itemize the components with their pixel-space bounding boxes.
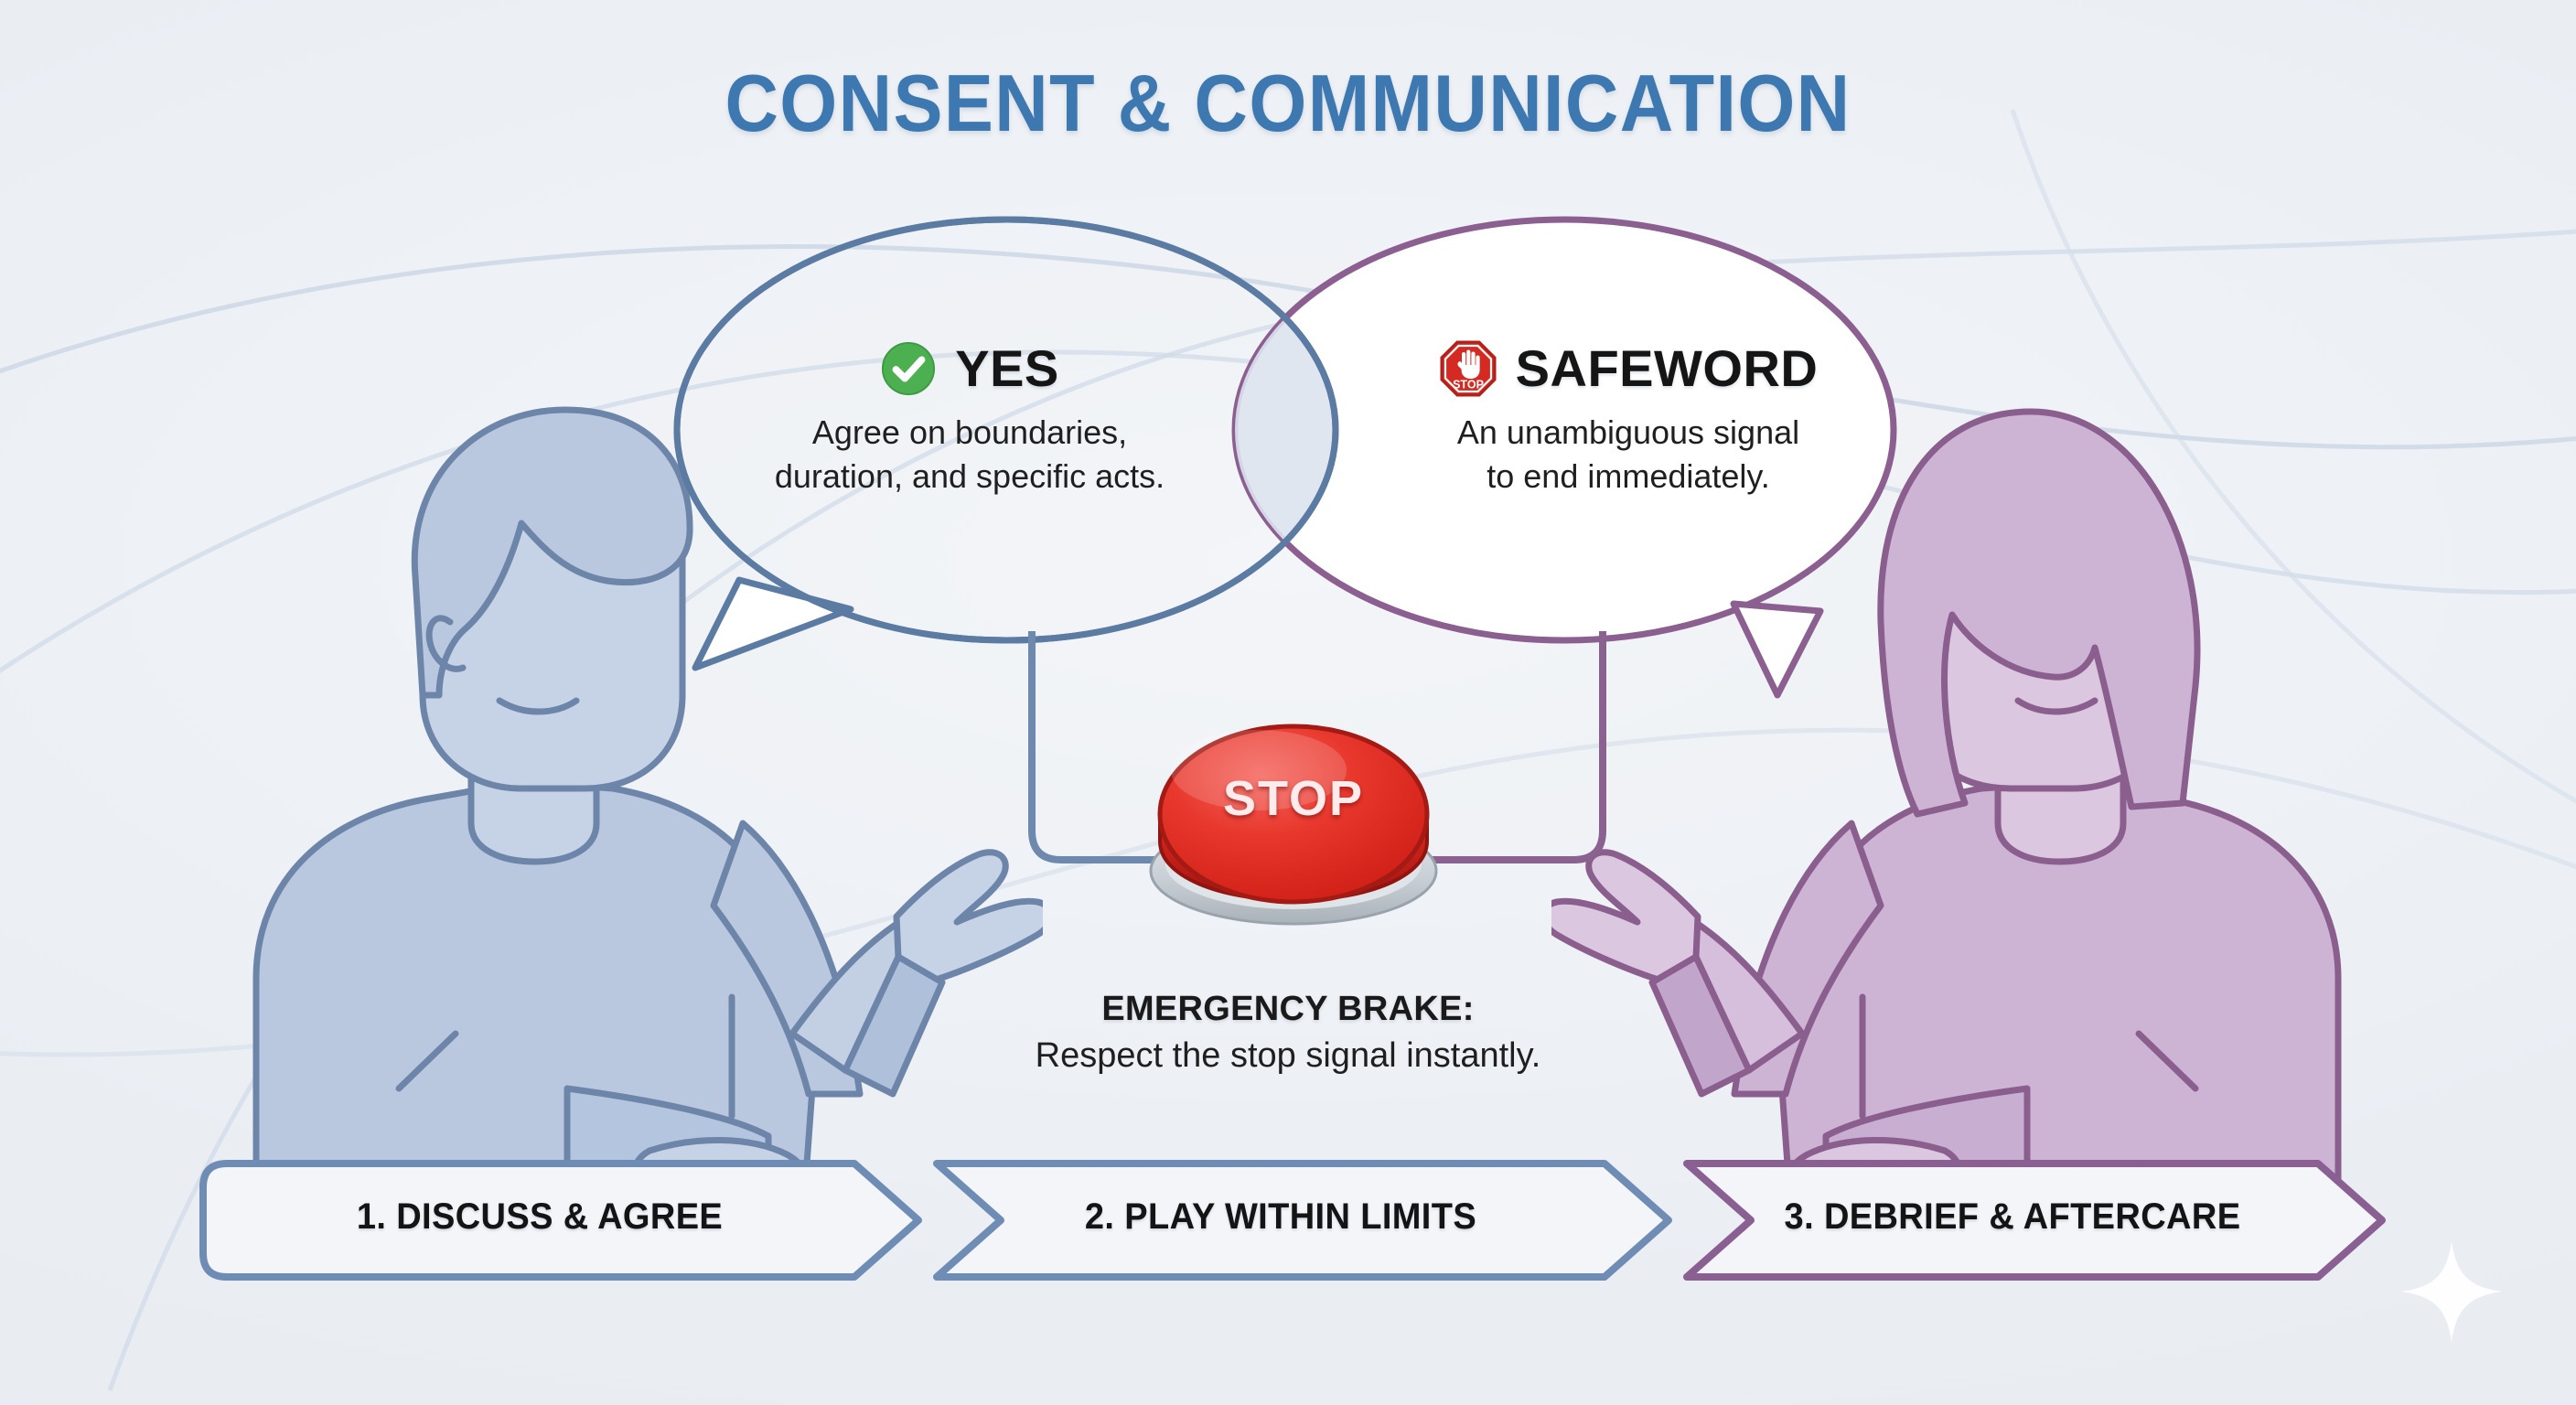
process-step-2-label[interactable]: 2. PLAY WITHIN LIMITS bbox=[977, 1196, 1585, 1238]
bubble-yes-body: Agree on boundaries, duration, and speci… bbox=[714, 411, 1226, 498]
process-step-1-label[interactable]: 1. DISCUSS & AGREE bbox=[253, 1196, 827, 1238]
emergency-brake-subtitle: Respect the stop signal instantly. bbox=[0, 1036, 2576, 1076]
emergency-stop-button[interactable]: STOP bbox=[1129, 697, 1458, 944]
emergency-stop-button-icon[interactable] bbox=[1129, 697, 1458, 944]
bubble-yes-line-1: Agree on boundaries, bbox=[714, 411, 1226, 455]
process-step-3-label[interactable]: 3. DEBRIEF & AFTERCARE bbox=[1700, 1196, 2325, 1238]
page-title: CONSENT & COMMUNICATION bbox=[103, 57, 2474, 150]
stop-sign-icon: STOP bbox=[1439, 339, 1497, 398]
person-right-illustration bbox=[1551, 393, 2375, 1217]
bubble-safeword-heading: SAFEWORD bbox=[1516, 338, 1819, 398]
bubble-safeword-line-2: to end immediately. bbox=[1372, 455, 1884, 499]
bubble-safeword-header: STOP SAFEWORD bbox=[1372, 338, 1884, 398]
infographic-canvas: CONSENT & COMMUNICATION bbox=[0, 0, 2576, 1405]
stop-sign-label: STOP bbox=[1453, 378, 1484, 391]
emergency-brake-caption: EMERGENCY BRAKE: Respect the stop signal… bbox=[0, 990, 2576, 1076]
check-circle-icon bbox=[880, 340, 937, 397]
person-left-illustration bbox=[220, 393, 1043, 1217]
bubble-yes-header: YES bbox=[714, 338, 1226, 398]
bubble-safeword-body: An unambiguous signal to end immediately… bbox=[1372, 411, 1884, 498]
emergency-brake-title: EMERGENCY BRAKE: bbox=[0, 990, 2576, 1029]
bubble-safeword: STOP SAFEWORD An unambiguous signal to e… bbox=[1372, 338, 1884, 498]
bubble-yes-line-2: duration, and specific acts. bbox=[714, 455, 1226, 499]
sparkle-icon bbox=[2397, 1237, 2506, 1346]
bubble-yes: YES Agree on boundaries, duration, and s… bbox=[714, 338, 1226, 498]
bubble-safeword-line-1: An unambiguous signal bbox=[1372, 411, 1884, 455]
bubble-yes-heading: YES bbox=[955, 338, 1059, 398]
